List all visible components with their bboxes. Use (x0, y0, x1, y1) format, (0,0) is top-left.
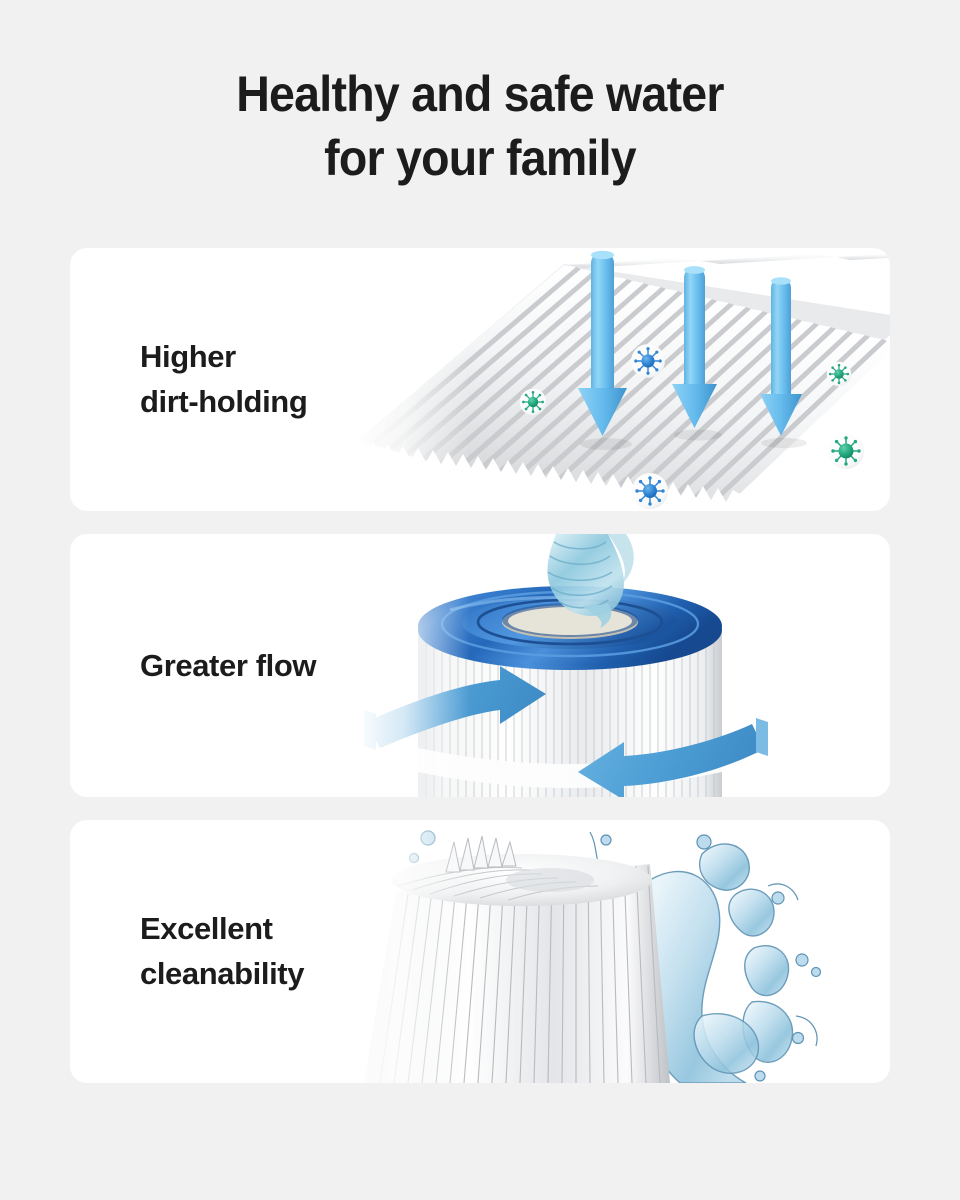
feature-card-label: Higher dirt-holding (140, 334, 307, 426)
page-title-line-1: Healthy and safe water (34, 62, 927, 126)
feature-card-dirt-holding: Higher dirt-holding (70, 248, 890, 511)
germ-badge-green-3 (828, 433, 864, 469)
page-title-line-2: for your family (34, 126, 927, 190)
filter-cartridge-vortex-illustration (350, 534, 890, 797)
pleated-filter-cylinder (364, 836, 670, 1083)
germ-badge-green-2 (827, 362, 851, 386)
feature-card-list: Higher dirt-holding (70, 248, 890, 1106)
pleated-cylinder-splash-illustration (350, 820, 890, 1083)
germ-badge-blue-2 (631, 344, 665, 378)
feature-card-cleanability: Excellent cleanability (70, 820, 890, 1083)
germ-badge-green-1 (520, 389, 547, 416)
pleat-field (356, 253, 890, 511)
germ-badge-blue-1 (632, 473, 668, 509)
feature-card-label: Greater flow (140, 643, 316, 689)
page-title: Healthy and safe water for your family (34, 0, 927, 190)
feature-card-label: Excellent cleanability (140, 906, 304, 998)
pleated-filter-sheet-illustration (350, 248, 890, 511)
feature-card-greater-flow: Greater flow (70, 534, 890, 797)
